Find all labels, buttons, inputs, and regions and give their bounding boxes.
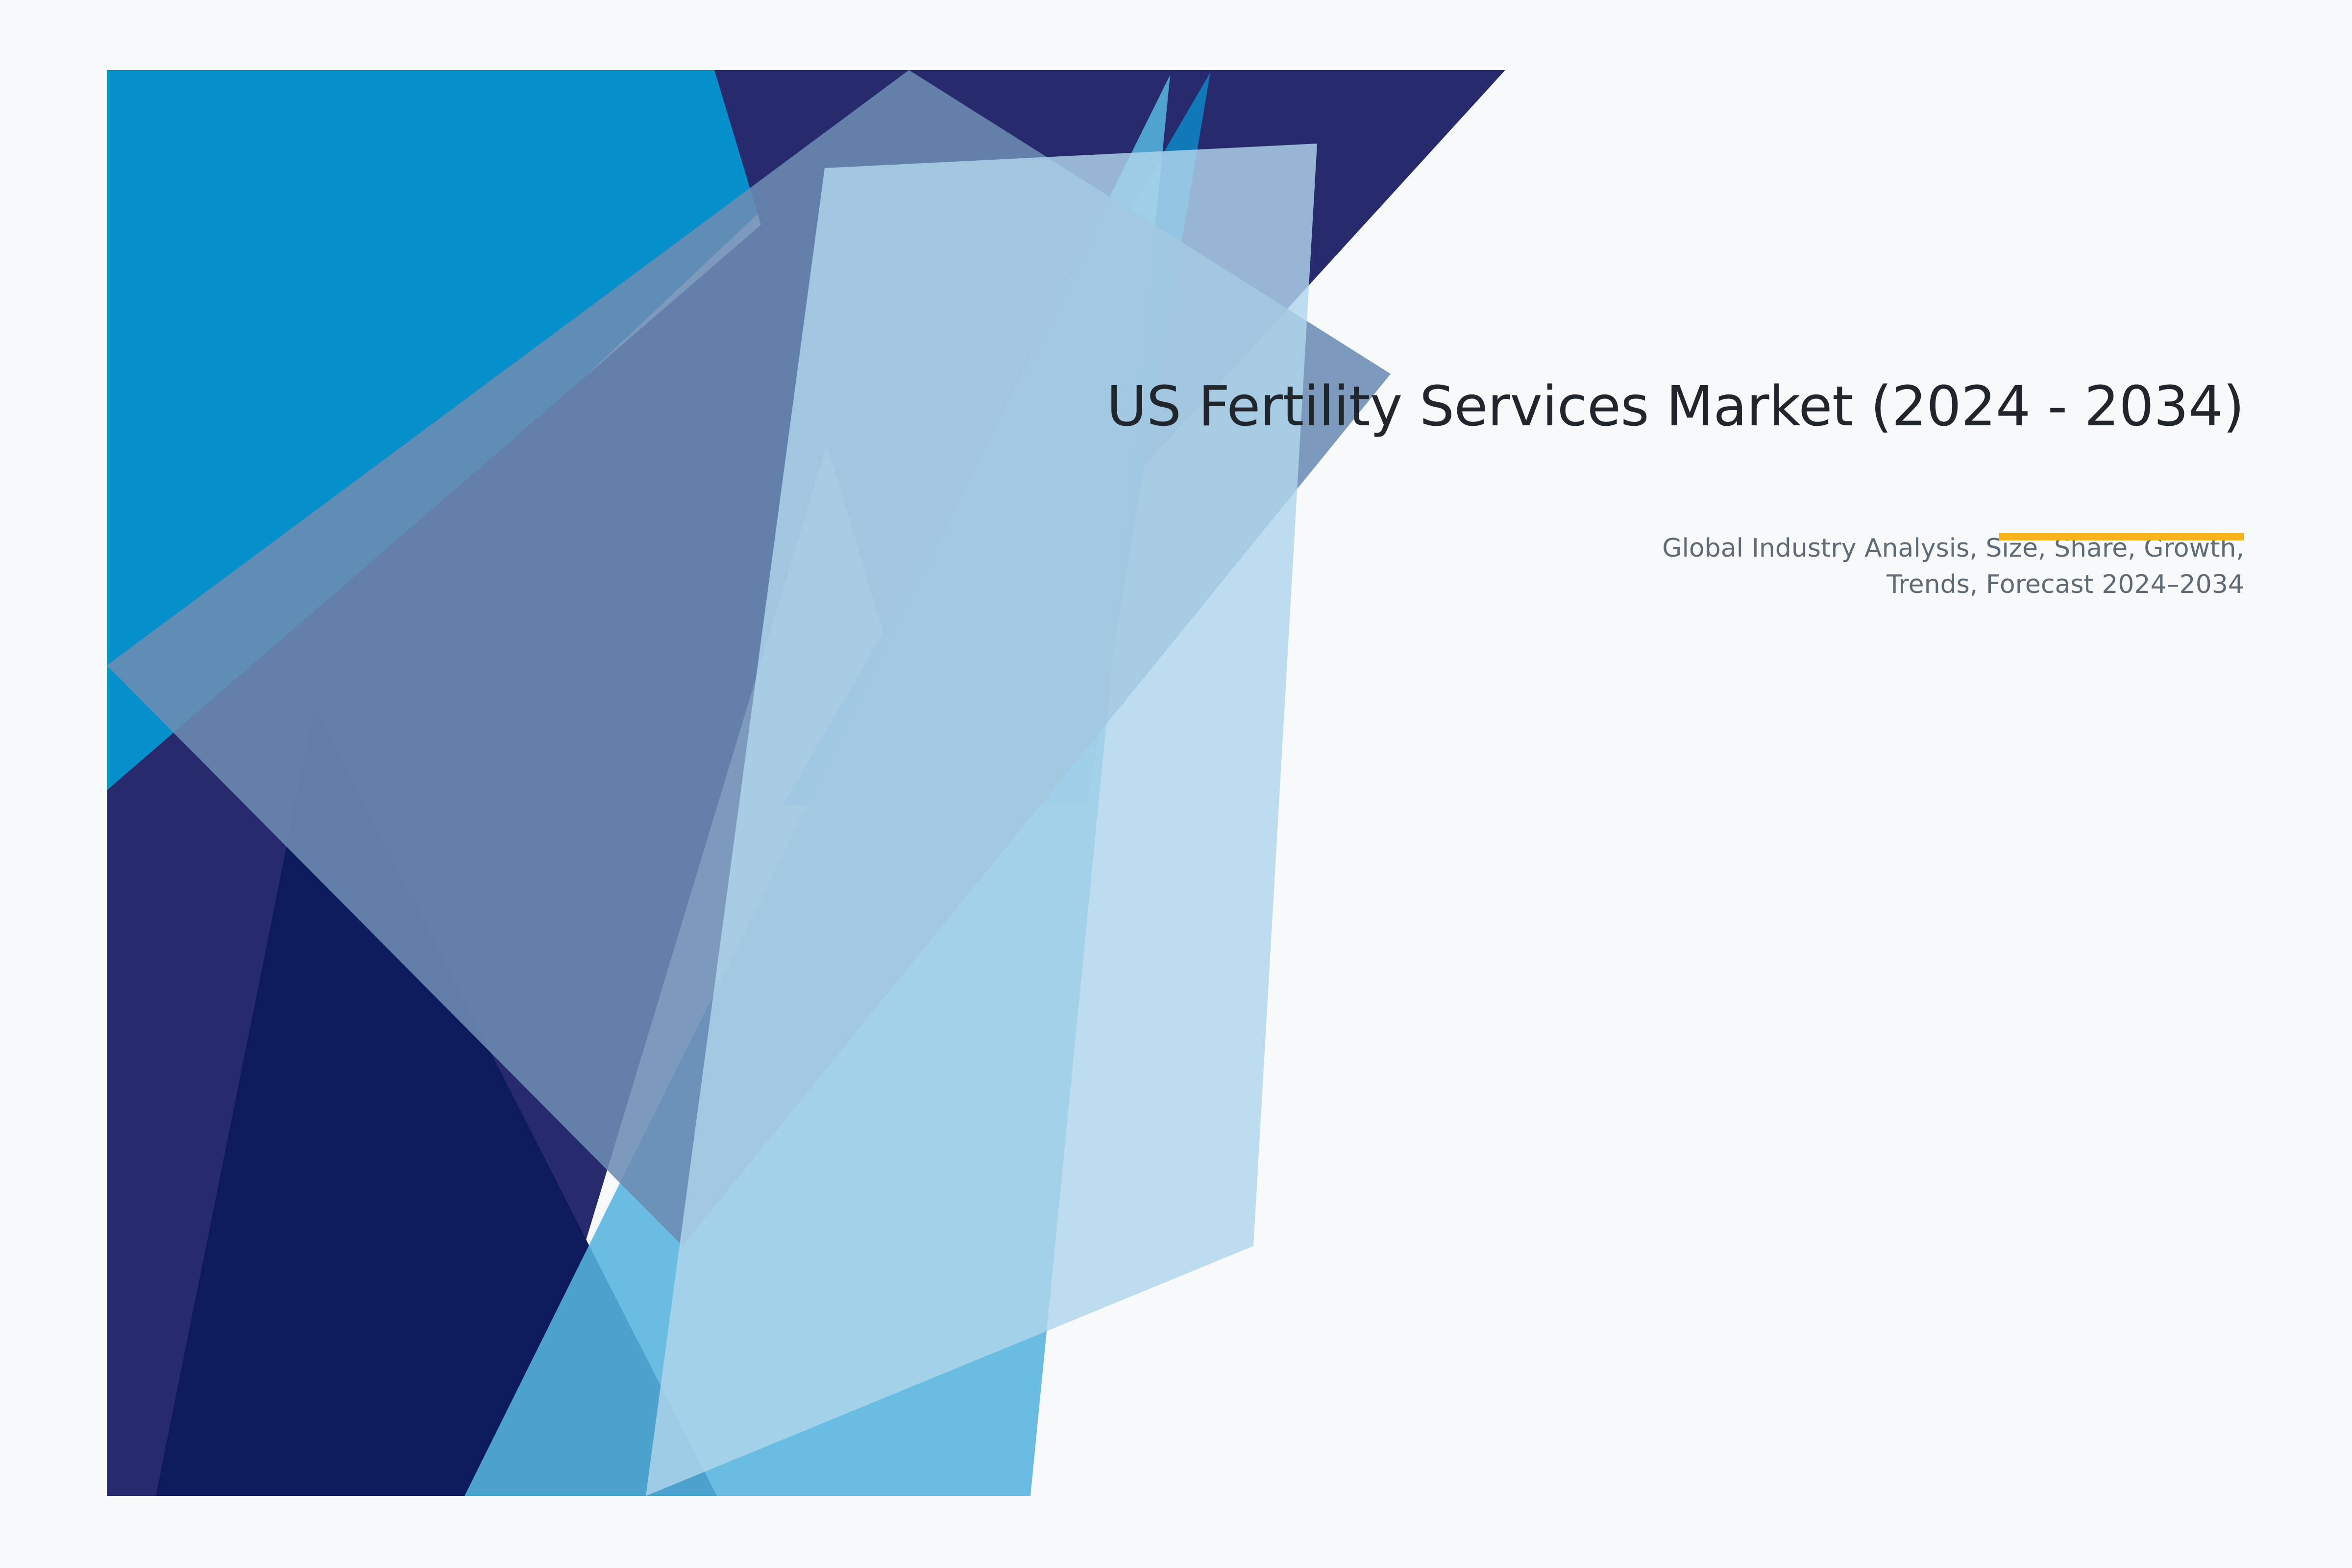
cover-slide: US Fertility Services Market (2024 - 203… bbox=[0, 0, 2352, 1568]
cover-text-column: US Fertility Services Market (2024 - 203… bbox=[931, 372, 2244, 603]
title-underline-accent bbox=[1999, 533, 2244, 540]
page-title: US Fertility Services Market (2024 - 203… bbox=[931, 372, 2244, 441]
title-block: US Fertility Services Market (2024 - 203… bbox=[931, 372, 2244, 441]
decorative-artwork-panel bbox=[107, 70, 1505, 1496]
page-subtitle: Global Industry Analysis, Size, Share, G… bbox=[1607, 531, 2244, 603]
artwork-svg bbox=[107, 70, 1505, 1496]
